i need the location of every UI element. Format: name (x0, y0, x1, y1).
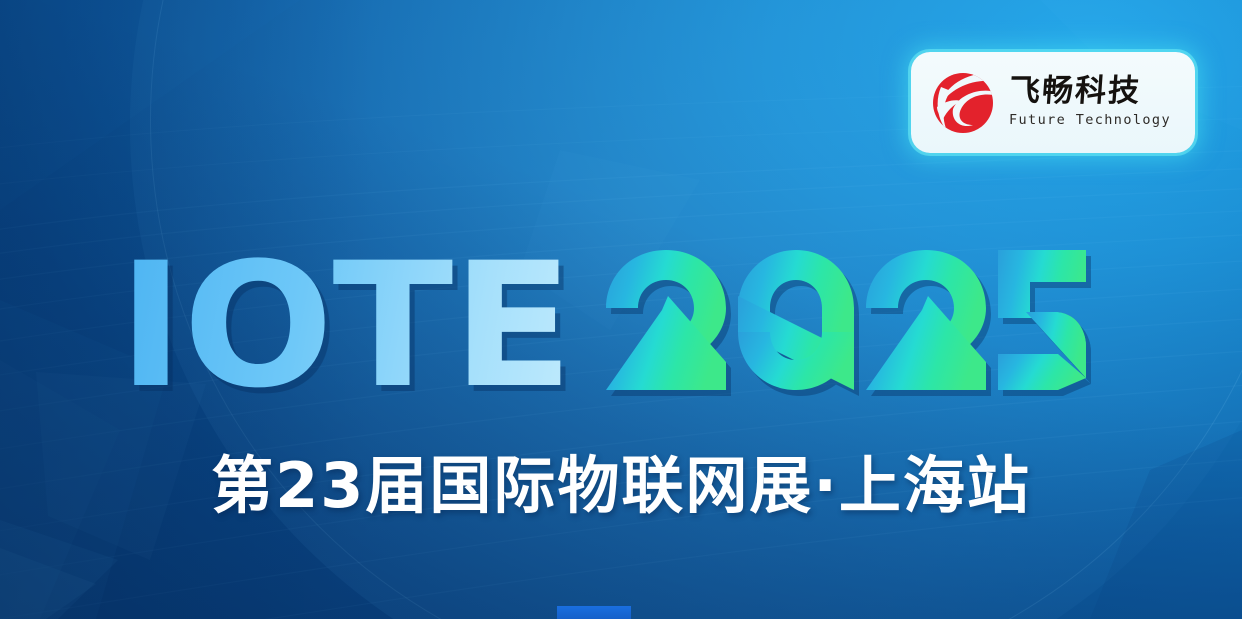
event-year-2025 (606, 250, 1086, 390)
brand-name-iote: IOTE (118, 240, 572, 412)
bottom-accent-tab (557, 606, 631, 619)
company-name-en: Future Technology (1009, 114, 1171, 128)
event-wordmark: IOTE (0, 246, 1242, 396)
company-name-cn: 飞畅科技 (1008, 76, 1172, 107)
event-subtitle: 第23届国际物联网展·上海站 (0, 452, 1242, 520)
sponsor-logo-badge[interactable]: 飞畅科技 Future Technology (911, 52, 1195, 153)
event-banner: 飞畅科技 Future Technology IOTE (0, 0, 1242, 619)
company-logo-icon (927, 67, 999, 139)
